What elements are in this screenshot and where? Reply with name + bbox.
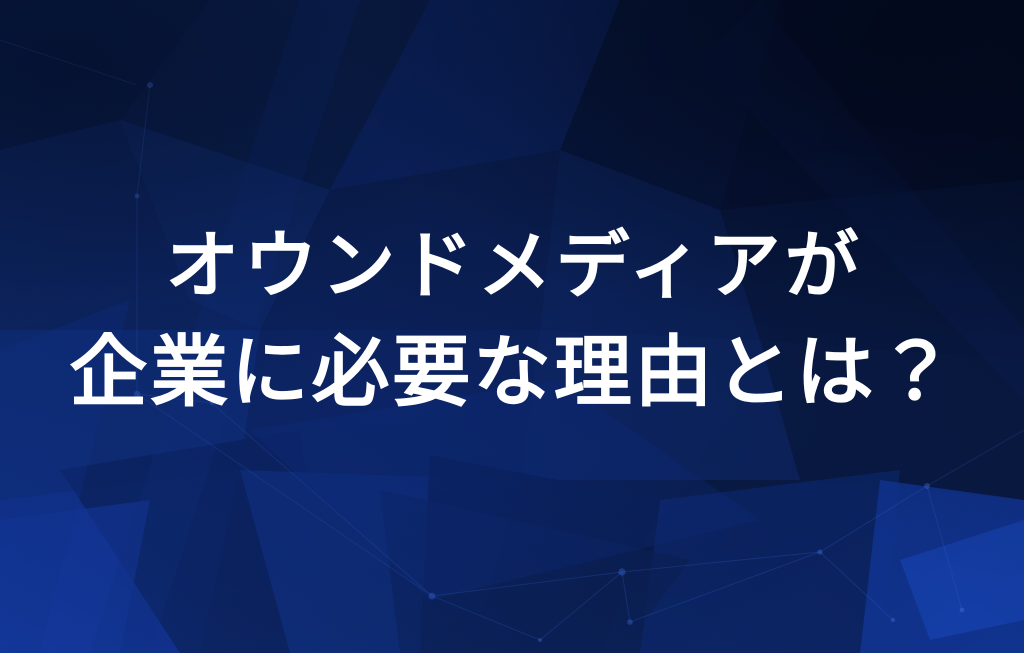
title-line-2: 企業に必要な理由とは？ xyxy=(0,318,1024,426)
hero-banner: オウンドメディアが 企業に必要な理由とは？ xyxy=(0,0,1024,653)
title-line-1: オウンドメディアが xyxy=(0,214,1024,318)
banner-title: オウンドメディアが 企業に必要な理由とは？ xyxy=(0,214,1024,426)
